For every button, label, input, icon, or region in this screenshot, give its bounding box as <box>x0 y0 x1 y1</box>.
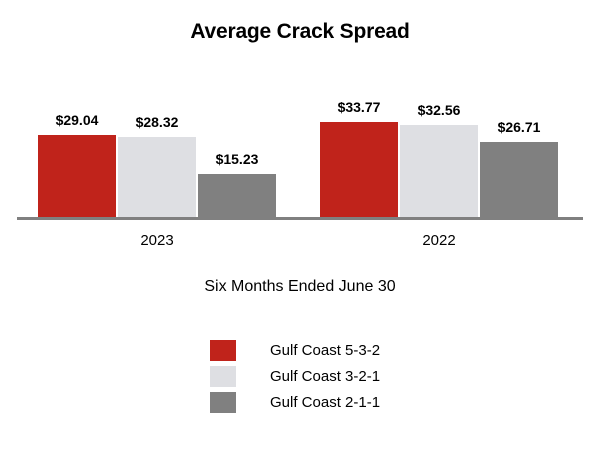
legend-item-1[interactable]: Gulf Coast 5-3-2 <box>210 337 470 363</box>
bar-2023-series-3 <box>198 174 276 217</box>
bar-2023-series-2 <box>118 137 196 217</box>
crack-spread-chart: Average Crack Spread $29.04$28.32$15.23$… <box>0 0 600 450</box>
category-label-2022: 2022 <box>260 232 600 249</box>
plot-area: $29.04$28.32$15.23$33.77$32.56$26.71 202… <box>0 0 600 225</box>
category-axis-line <box>17 217 583 220</box>
bar-2022-series-3 <box>480 142 558 217</box>
bar-value-label: $15.23 <box>187 151 287 167</box>
bar-value-label: $26.71 <box>469 119 569 135</box>
bar-2023-series-1 <box>38 135 116 217</box>
bar-value-label: $28.32 <box>107 114 207 130</box>
bar-value-label: $32.56 <box>389 102 489 118</box>
bar-2022-series-2 <box>400 125 478 217</box>
legend-label: Gulf Coast 5-3-2 <box>270 342 380 359</box>
legend-label: Gulf Coast 2-1-1 <box>270 394 380 411</box>
axis-title: Six Months Ended June 30 <box>0 278 600 296</box>
legend-label: Gulf Coast 3-2-1 <box>270 368 380 385</box>
legend-swatch-icon <box>210 392 236 413</box>
legend-swatch-icon <box>210 366 236 387</box>
legend-swatch-icon <box>210 340 236 361</box>
legend-item-2[interactable]: Gulf Coast 3-2-1 <box>210 363 470 389</box>
legend-item-3[interactable]: Gulf Coast 2-1-1 <box>210 389 470 415</box>
bar-2022-series-1 <box>320 122 398 217</box>
chart-legend: Gulf Coast 5-3-2Gulf Coast 3-2-1Gulf Coa… <box>210 337 470 415</box>
